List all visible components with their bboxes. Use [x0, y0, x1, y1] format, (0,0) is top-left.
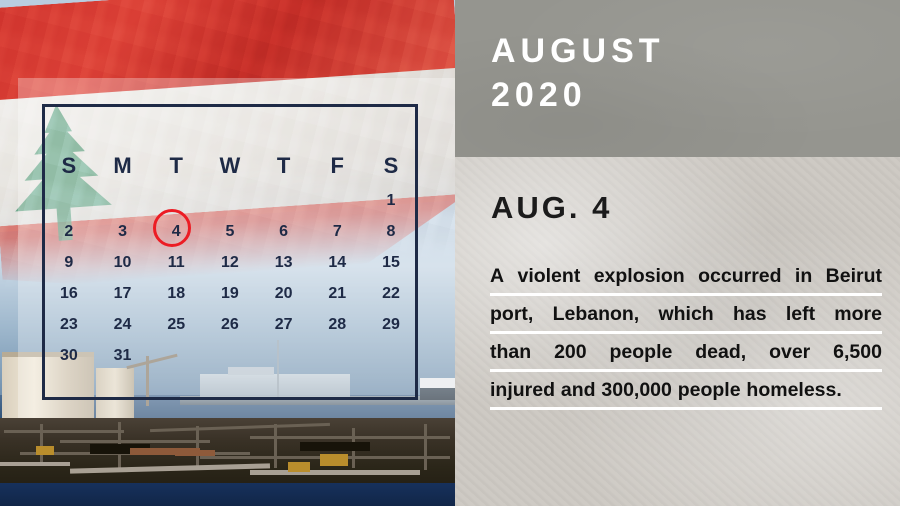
calendar-weekday-header: S M T W T F S [42, 155, 418, 177]
text-rule [490, 293, 882, 296]
text-rule [490, 369, 882, 372]
calendar-week-row: 9 10 11 12 13 14 15 [42, 255, 418, 286]
calendar-day[interactable]: 23 [42, 317, 96, 333]
weekday-mon: M [96, 155, 150, 177]
calendar-day[interactable]: 10 [96, 255, 150, 271]
calendar-day[interactable]: 14 [310, 255, 364, 271]
calendar-day[interactable]: 15 [364, 255, 418, 271]
weekday-fri: F [310, 155, 364, 177]
calendar-day[interactable]: 3 [96, 224, 150, 240]
weekday-sat: S [364, 155, 418, 177]
calendar-day[interactable]: 13 [257, 255, 311, 271]
entry-body-text: A violent explosion occurred in Beirut p… [490, 262, 882, 414]
calendar-day[interactable]: 7 [310, 224, 364, 240]
slide-canvas: S M T W T F S 1 2 3 4 5 6 [0, 0, 900, 506]
calendar-day[interactable]: 17 [96, 286, 150, 302]
calendar-day[interactable]: 27 [257, 317, 311, 333]
calendar-day[interactable]: 9 [42, 255, 96, 271]
calendar-day[interactable]: 21 [310, 286, 364, 302]
highlight-circle-annotation [153, 209, 191, 247]
calendar-day[interactable]: 19 [203, 286, 257, 302]
calendar-day[interactable]: 5 [203, 224, 257, 240]
text-rule [490, 407, 882, 410]
calendar-day[interactable]: 22 [364, 286, 418, 302]
calendar-day[interactable]: 1 [364, 193, 418, 209]
calendar-day[interactable]: 6 [257, 224, 311, 240]
calendar-week-row: 1 [42, 193, 418, 224]
weekday-tue: T [149, 155, 203, 177]
weekday-sun: S [42, 155, 96, 177]
calendar-day[interactable]: 20 [257, 286, 311, 302]
calendar-day[interactable]: 28 [310, 317, 364, 333]
entry-body-line: port, Lebanon, which has left more [490, 300, 882, 338]
calendar-day[interactable]: 2 [42, 224, 96, 240]
calendar-day[interactable]: 26 [203, 317, 257, 333]
calendar-day[interactable]: 8 [364, 224, 418, 240]
weekday-wed: W [203, 155, 257, 177]
photo-panel: S M T W T F S 1 2 3 4 5 6 [0, 0, 455, 506]
wreckage-field [0, 418, 455, 488]
calendar-weeks: 1 2 3 4 5 6 7 8 9 10 11 12 13 14 15 16 [42, 193, 418, 379]
calendar-week-row: 16 17 18 19 20 21 22 [42, 286, 418, 317]
weekday-thu: T [257, 155, 311, 177]
calendar-day[interactable]: 25 [149, 317, 203, 333]
month-year-title: AUGUST 2020 [491, 30, 665, 117]
calendar-day[interactable]: 16 [42, 286, 96, 302]
calendar-week-row: 2 3 4 5 6 7 8 [42, 224, 418, 255]
calendar-day[interactable]: 24 [96, 317, 150, 333]
text-rule [490, 331, 882, 334]
calendar-day[interactable]: 31 [96, 348, 150, 364]
calendar-day[interactable]: 30 [42, 348, 96, 364]
calendar-week-row: 23 24 25 26 27 28 29 [42, 317, 418, 348]
bottom-accent-bar [0, 483, 455, 506]
calendar-day[interactable]: 11 [149, 255, 203, 271]
entry-date-title: AUG. 4 [491, 190, 612, 226]
calendar-day[interactable]: 12 [203, 255, 257, 271]
entry-body-line: A violent explosion occurred in Beirut [490, 262, 882, 300]
calendar-week-row: 30 31 [42, 348, 418, 379]
entry-body-line: injured and 300,000 people homeless. [490, 376, 882, 414]
calendar-day[interactable]: 18 [149, 286, 203, 302]
entry-body-line: than 200 people dead, over 6,500 [490, 338, 882, 376]
calendar-day[interactable]: 29 [364, 317, 418, 333]
